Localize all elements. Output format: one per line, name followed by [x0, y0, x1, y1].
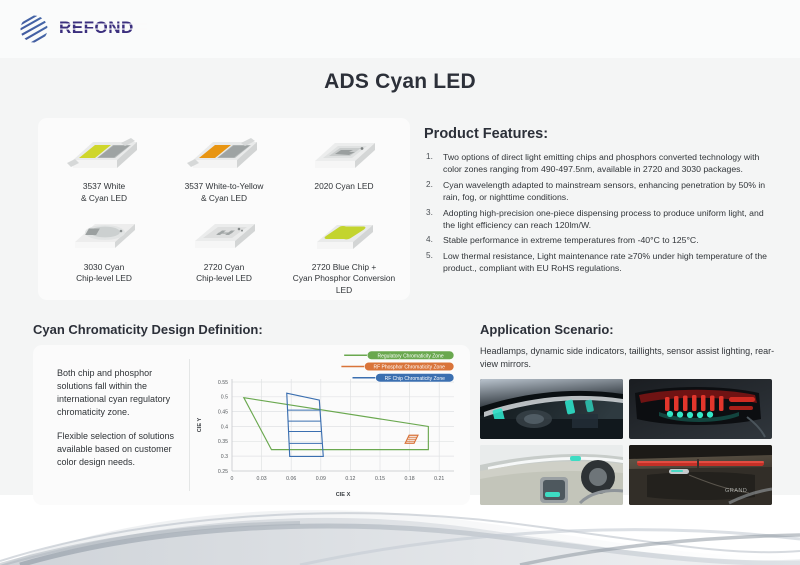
headlamp-side-indicator-cyan-image[interactable] [480, 445, 623, 505]
top-content-row: 3537 White & Cyan LED 3537 White-to-Yell… [38, 118, 768, 313]
application-thumbnails: GRAND [480, 379, 772, 505]
led-package-2720-cyan-chip-level-icon [185, 211, 263, 257]
svg-text:0.06: 0.06 [286, 476, 296, 482]
svg-text:0.03: 0.03 [257, 476, 267, 482]
svg-text:0.35: 0.35 [218, 439, 228, 445]
page-title: ADS Cyan LED [0, 70, 800, 94]
rear-view-mirror-cyan-lighting-image[interactable] [480, 379, 623, 439]
feature-item: Two options of direct light emitting chi… [424, 151, 768, 176]
product-label: 2720 Blue Chip + Cyan Phosphor Conversio… [284, 262, 404, 297]
product-item[interactable]: 2720 Cyan Chip-level LED [164, 207, 284, 297]
taillight-cyan-indicators-image[interactable] [629, 379, 772, 439]
rear-light-bar-dark-vehicle-image[interactable]: GRAND [629, 445, 772, 505]
svg-text:RF Chip Chromaticity Zone: RF Chip Chromaticity Zone [385, 376, 446, 382]
chromaticity-description: Both chip and phosphor solutions fall wi… [33, 345, 189, 505]
feature-item: Cyan wavelength adapted to mainstream se… [424, 179, 768, 204]
svg-text:0.09: 0.09 [316, 476, 326, 482]
svg-text:0.12: 0.12 [345, 476, 355, 482]
svg-text:RF Phosphor Chromaticity Zone: RF Phosphor Chromaticity Zone [373, 365, 445, 371]
features-list: Two options of direct light emitting chi… [424, 151, 768, 275]
application-heading: Application Scenario: [480, 322, 780, 337]
product-item[interactable]: 3030 Cyan Chip-level LED [44, 207, 164, 297]
feature-item: Stable performance in extreme temperatur… [424, 234, 768, 246]
svg-text:0.45: 0.45 [218, 409, 228, 415]
product-item[interactable]: 3537 White-to-Yellow & Cyan LED [164, 126, 284, 207]
chromaticity-paragraph: Both chip and phosphor solutions fall wi… [57, 367, 179, 419]
feature-item: Adopting high-precision one-piece dispen… [424, 207, 768, 232]
cie-chart-svg: 00.030.060.090.120.150.180.210.250.30.35… [192, 349, 464, 501]
refond-sphere-logo-icon [18, 13, 50, 45]
svg-text:CIE X: CIE X [336, 492, 351, 498]
feature-item: Low thermal resistance, Light maintenanc… [424, 250, 768, 275]
product-label: 3537 White-to-Yellow & Cyan LED [185, 181, 264, 204]
led-package-3537-white-to-yellow-cyan-icon [185, 130, 263, 176]
product-label: 2720 Cyan Chip-level LED [196, 262, 252, 285]
product-label: 2020 Cyan LED [314, 181, 373, 193]
brand-name-wordmark: REFOND [59, 17, 147, 42]
svg-text:CIE Y: CIE Y [197, 417, 203, 432]
page-header: REFOND [0, 0, 800, 58]
product-features-panel: Product Features: Two options of direct … [424, 118, 768, 313]
chromaticity-card: Both chip and phosphor solutions fall wi… [33, 345, 470, 505]
product-item[interactable]: 3537 White & Cyan LED [44, 126, 164, 207]
product-item[interactable]: 2720 Blue Chip + Cyan Phosphor Conversio… [284, 207, 404, 297]
features-heading: Product Features: [424, 126, 768, 142]
brand-logo[interactable]: REFOND [18, 13, 147, 45]
svg-text:Regulatory Chromaticity Zone: Regulatory Chromaticity Zone [378, 353, 444, 359]
chromaticity-paragraph: Flexible selection of solutions availabl… [57, 430, 179, 469]
svg-text:GRAND: GRAND [725, 488, 747, 494]
svg-text:0.21: 0.21 [434, 476, 444, 482]
product-label: 3030 Cyan Chip-level LED [76, 262, 132, 285]
product-item[interactable]: 2020 Cyan LED [284, 126, 404, 207]
svg-text:0.18: 0.18 [405, 476, 415, 482]
svg-text:0.4: 0.4 [221, 424, 228, 430]
svg-text:0.55: 0.55 [218, 380, 228, 386]
chromaticity-heading: Cyan Chromaticity Design Definition: [33, 322, 470, 337]
led-package-2020-cyan-icon [305, 130, 383, 176]
svg-text:REFOND: REFOND [59, 18, 134, 37]
cie-chromaticity-chart: 00.030.060.090.120.150.180.210.250.30.35… [190, 345, 470, 505]
svg-text:0.5: 0.5 [221, 395, 228, 401]
svg-text:0.3: 0.3 [221, 454, 228, 460]
led-package-3537-white-cyan-icon [65, 130, 143, 176]
application-description: Headlamps, dynamic side indicators, tail… [480, 345, 775, 370]
led-package-2720-blue-chip-phosphor-icon [305, 211, 383, 257]
svg-text:0.25: 0.25 [218, 469, 228, 475]
svg-text:0.15: 0.15 [375, 476, 385, 482]
chromaticity-section: Cyan Chromaticity Design Definition: Bot… [33, 322, 470, 505]
product-gallery-card: 3537 White & Cyan LED 3537 White-to-Yell… [38, 118, 410, 300]
application-section: Application Scenario: Headlamps, dynamic… [480, 322, 780, 505]
product-label: 3537 White & Cyan LED [81, 181, 127, 204]
led-package-3030-cyan-chip-level-icon [65, 211, 143, 257]
svg-text:0: 0 [231, 476, 234, 482]
